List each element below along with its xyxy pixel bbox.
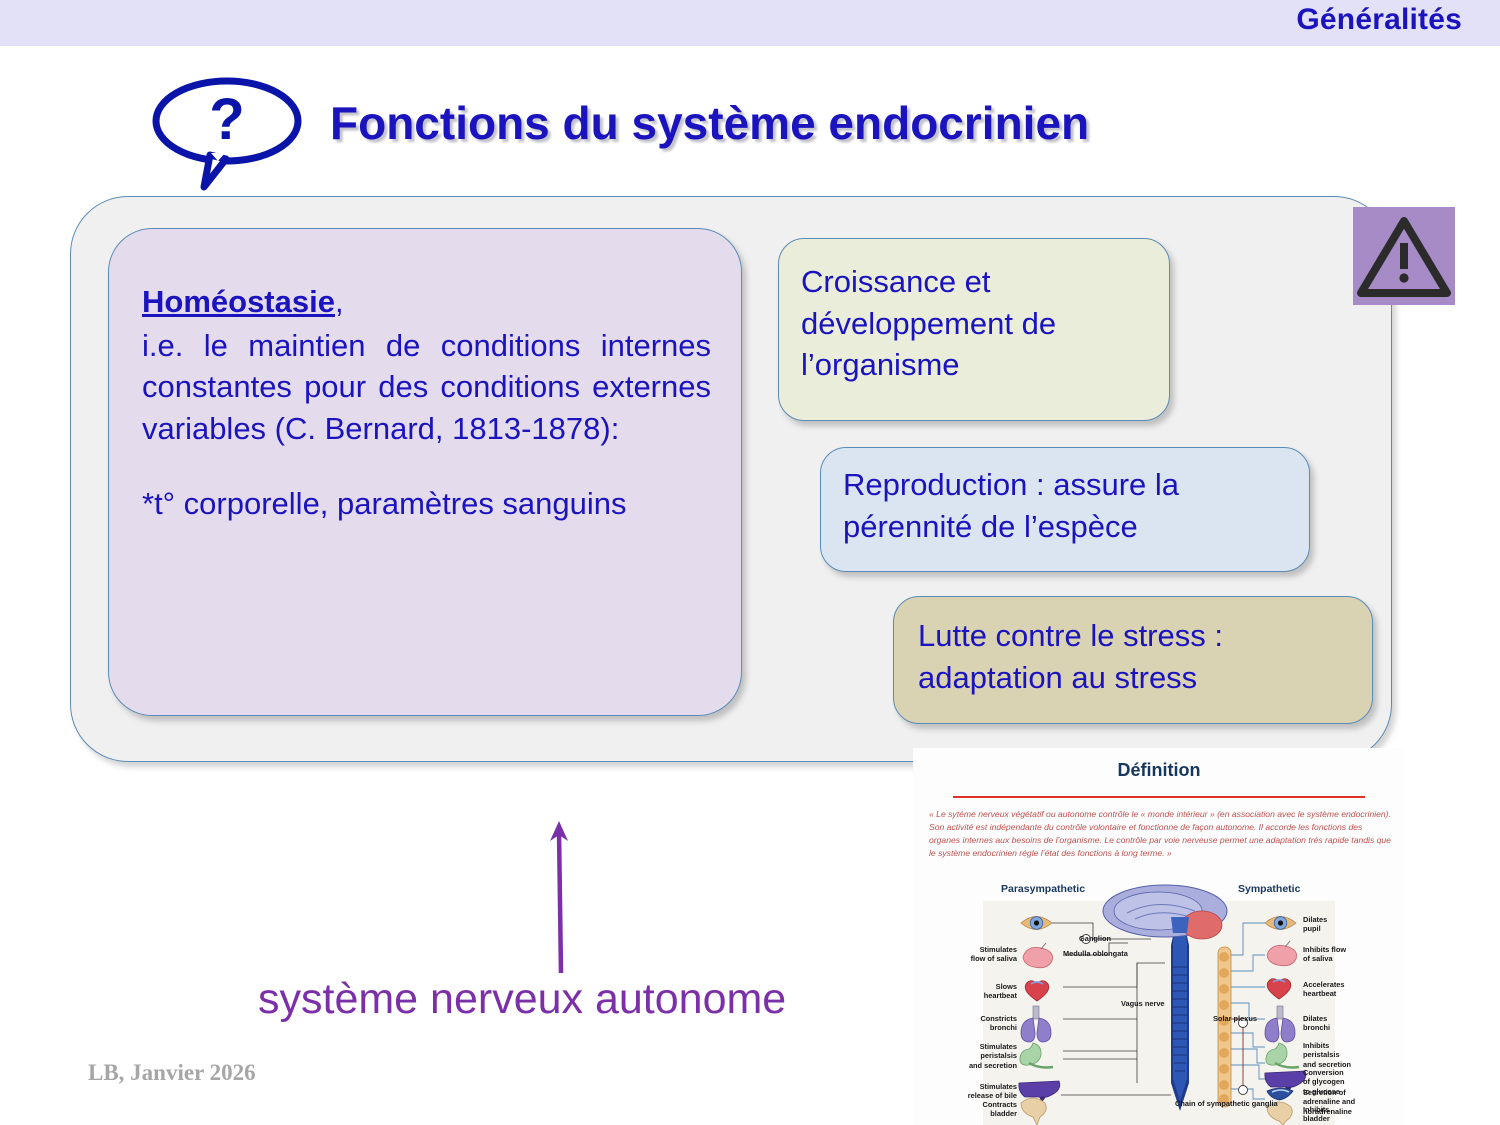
- footer-credit: LB, Janvier 2026: [88, 1060, 256, 1086]
- diagram-label-inhibits-saliva: Inhibits flow of saliva: [1303, 945, 1346, 964]
- reproduction-box: Reproduction : assure la pérennité de l’…: [820, 447, 1310, 572]
- question-speech-bubble: ?: [148, 77, 306, 165]
- diagram-label-contracts-bladder: Contracts bladder: [931, 1100, 1017, 1119]
- growth-box-text: Croissance et développement de l’organis…: [801, 264, 1056, 382]
- homeostasis-box: Homéostasie, i.e. le maintien de conditi…: [108, 228, 742, 716]
- diagram-label-inhibits-peristalsis: Inhibits peristalsis and secretion: [1303, 1041, 1351, 1069]
- diagram-label-vagus-nerve: Vagus nerve: [1121, 999, 1165, 1008]
- section-title: Généralités: [1296, 3, 1462, 37]
- diagram-label-slows-heartbeat: Slows heartbeat: [931, 982, 1017, 1001]
- growth-box: Croissance et développement de l’organis…: [778, 238, 1170, 421]
- diagram-label-dilates-bronchi: Dilates bronchi: [1303, 1014, 1330, 1033]
- homeostasis-heading-line: Homéostasie,: [142, 281, 711, 323]
- diagram-label-stimulates-saliva: Stimulates flow of saliva: [931, 945, 1017, 964]
- definition-divider: [953, 796, 1365, 798]
- definition-title: Définition: [913, 760, 1405, 781]
- homeostasis-definition: i.e. le maintien de conditions internes …: [142, 325, 711, 450]
- warning-triangle-icon: [1353, 207, 1455, 305]
- diagram-label-release-of-bile: Stimulates release of bile: [923, 1082, 1017, 1101]
- page-title: Fonctions du système endocrinien: [330, 96, 1089, 150]
- annotation-arrow-icon: [540, 815, 580, 975]
- autonomic-nervous-system-label: système nerveux autonome: [258, 975, 786, 1024]
- diagram-label-inhibits-bladder: Inhibits bladder contraction: [1303, 1105, 1343, 1125]
- definition-slide-image: Définition « Le sytéme nerveux végétatif…: [913, 748, 1405, 1125]
- diagram-label-medulla-oblongata: Medulla oblongata: [1063, 949, 1128, 958]
- diagram-label-accelerates-heartbeat: Accelerates heartbeat: [1303, 980, 1345, 999]
- stress-box: Lutte contre le stress : adaptation au s…: [893, 596, 1373, 724]
- diagram-heading-sympathetic: Sympathetic: [1238, 883, 1300, 895]
- diagram-label-ganglion: Ganglion: [1079, 934, 1111, 943]
- stress-box-text: Lutte contre le stress : adaptation au s…: [918, 618, 1223, 695]
- homeostasis-term: Homéostasie: [142, 284, 335, 319]
- diagram-label-dilates-pupil: Dilates pupil: [1303, 915, 1327, 934]
- bubble-question-glyph: ?: [209, 87, 244, 152]
- diagram-label-stimulates-peristalsis: Stimulates peristalsis and secretion: [923, 1042, 1017, 1070]
- definition-quote: « Le sytéme nerveux végétatif ou autonom…: [929, 808, 1391, 860]
- diagram-label-solar-plexus: Solar plexus: [1213, 1014, 1257, 1023]
- reproduction-box-text: Reproduction : assure la pérennité de l’…: [843, 467, 1179, 544]
- homeostasis-comma: ,: [335, 284, 344, 319]
- homeostasis-examples: *t° corporelle, paramètres sanguins: [142, 483, 711, 525]
- diagram-label-constricts-bronchi: Constricts bronchi: [931, 1014, 1017, 1033]
- autonomic-nervous-system-diagram: Parasympathetic Sympathetic Ganglion Med…: [913, 883, 1405, 1125]
- diagram-heading-parasympathetic: Parasympathetic: [1001, 883, 1085, 895]
- header-banner: Généralités: [0, 0, 1500, 46]
- diagram-label-sympathetic-chain: Chain of sympathetic ganglia: [1175, 1099, 1278, 1108]
